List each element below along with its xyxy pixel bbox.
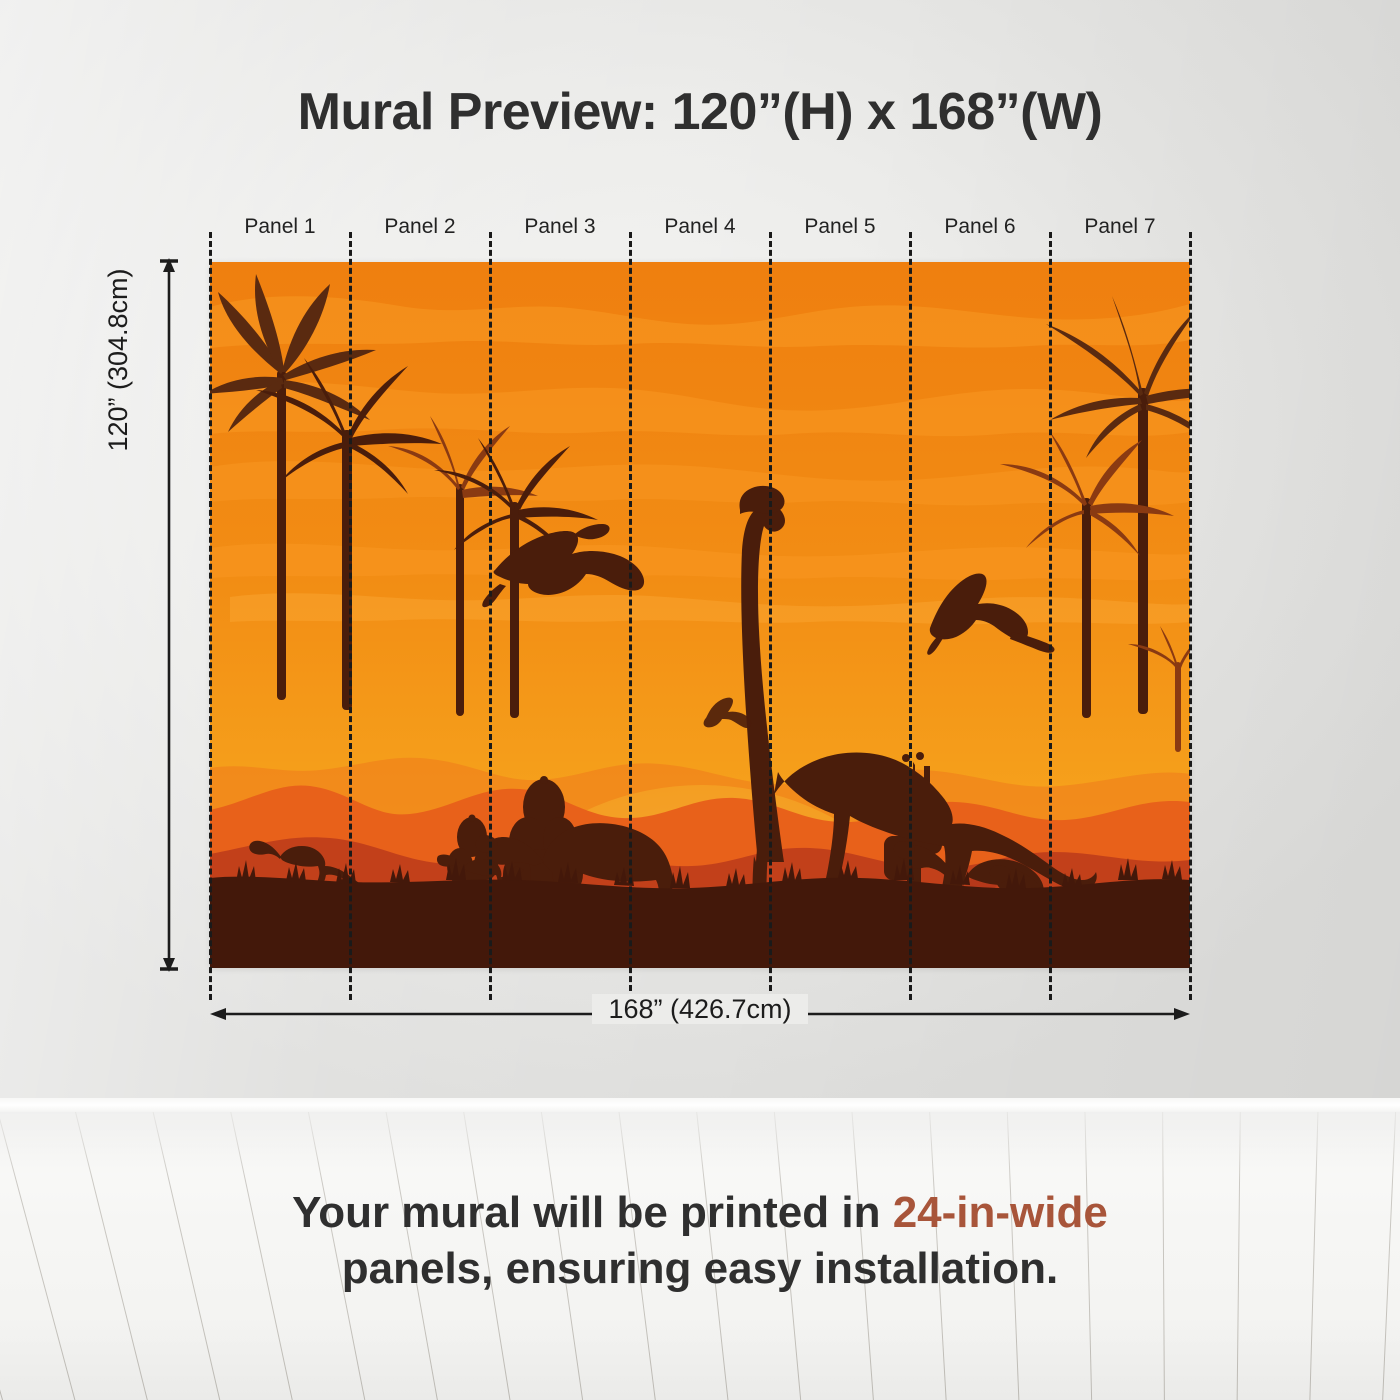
- panel-label-4: Panel 4: [630, 215, 770, 239]
- panel-label-3: Panel 3: [490, 215, 630, 239]
- mural-edge-line: [1189, 232, 1192, 1000]
- mural-edge-line: [209, 232, 212, 1000]
- mural-artwork: [210, 262, 1190, 968]
- panel-label-2: Panel 2: [350, 215, 490, 239]
- panel-divider-line: [489, 232, 492, 1000]
- caption-line-1-before: Your mural will be printed in: [292, 1188, 893, 1237]
- panel-label-6: Panel 6: [910, 215, 1050, 239]
- panel-label-7: Panel 7: [1050, 215, 1190, 239]
- caption-line-2: panels, ensuring easy installation.: [0, 1241, 1400, 1297]
- footer-caption: Your mural will be printed in 24-in-wide…: [0, 1185, 1400, 1298]
- panel-divider-line: [1049, 232, 1052, 1000]
- caption-line-1: Your mural will be printed in 24-in-wide: [0, 1185, 1400, 1241]
- panel-divider-line: [909, 232, 912, 1000]
- panel-label-1: Panel 1: [210, 215, 350, 239]
- panel-label-5: Panel 5: [770, 215, 910, 239]
- height-dimension-label: 120” (304.8cm): [103, 230, 134, 490]
- height-dimension-arrow: [160, 258, 178, 972]
- page-title: Mural Preview: 120”(H) x 168”(W): [0, 82, 1400, 142]
- width-dimension-label: 168” (426.7cm): [0, 994, 1400, 1025]
- panel-divider-line: [629, 232, 632, 1000]
- caption-accent-panel-width: 24-in-wide: [893, 1188, 1108, 1237]
- panel-divider-line: [349, 232, 352, 1000]
- mural-preview-screenshot: Mural Preview: 120”(H) x 168”(W): [0, 0, 1400, 1400]
- width-dimension-text: 168” (426.7cm): [592, 994, 807, 1024]
- mural-svg: [210, 262, 1190, 968]
- panel-divider-line: [769, 232, 772, 1000]
